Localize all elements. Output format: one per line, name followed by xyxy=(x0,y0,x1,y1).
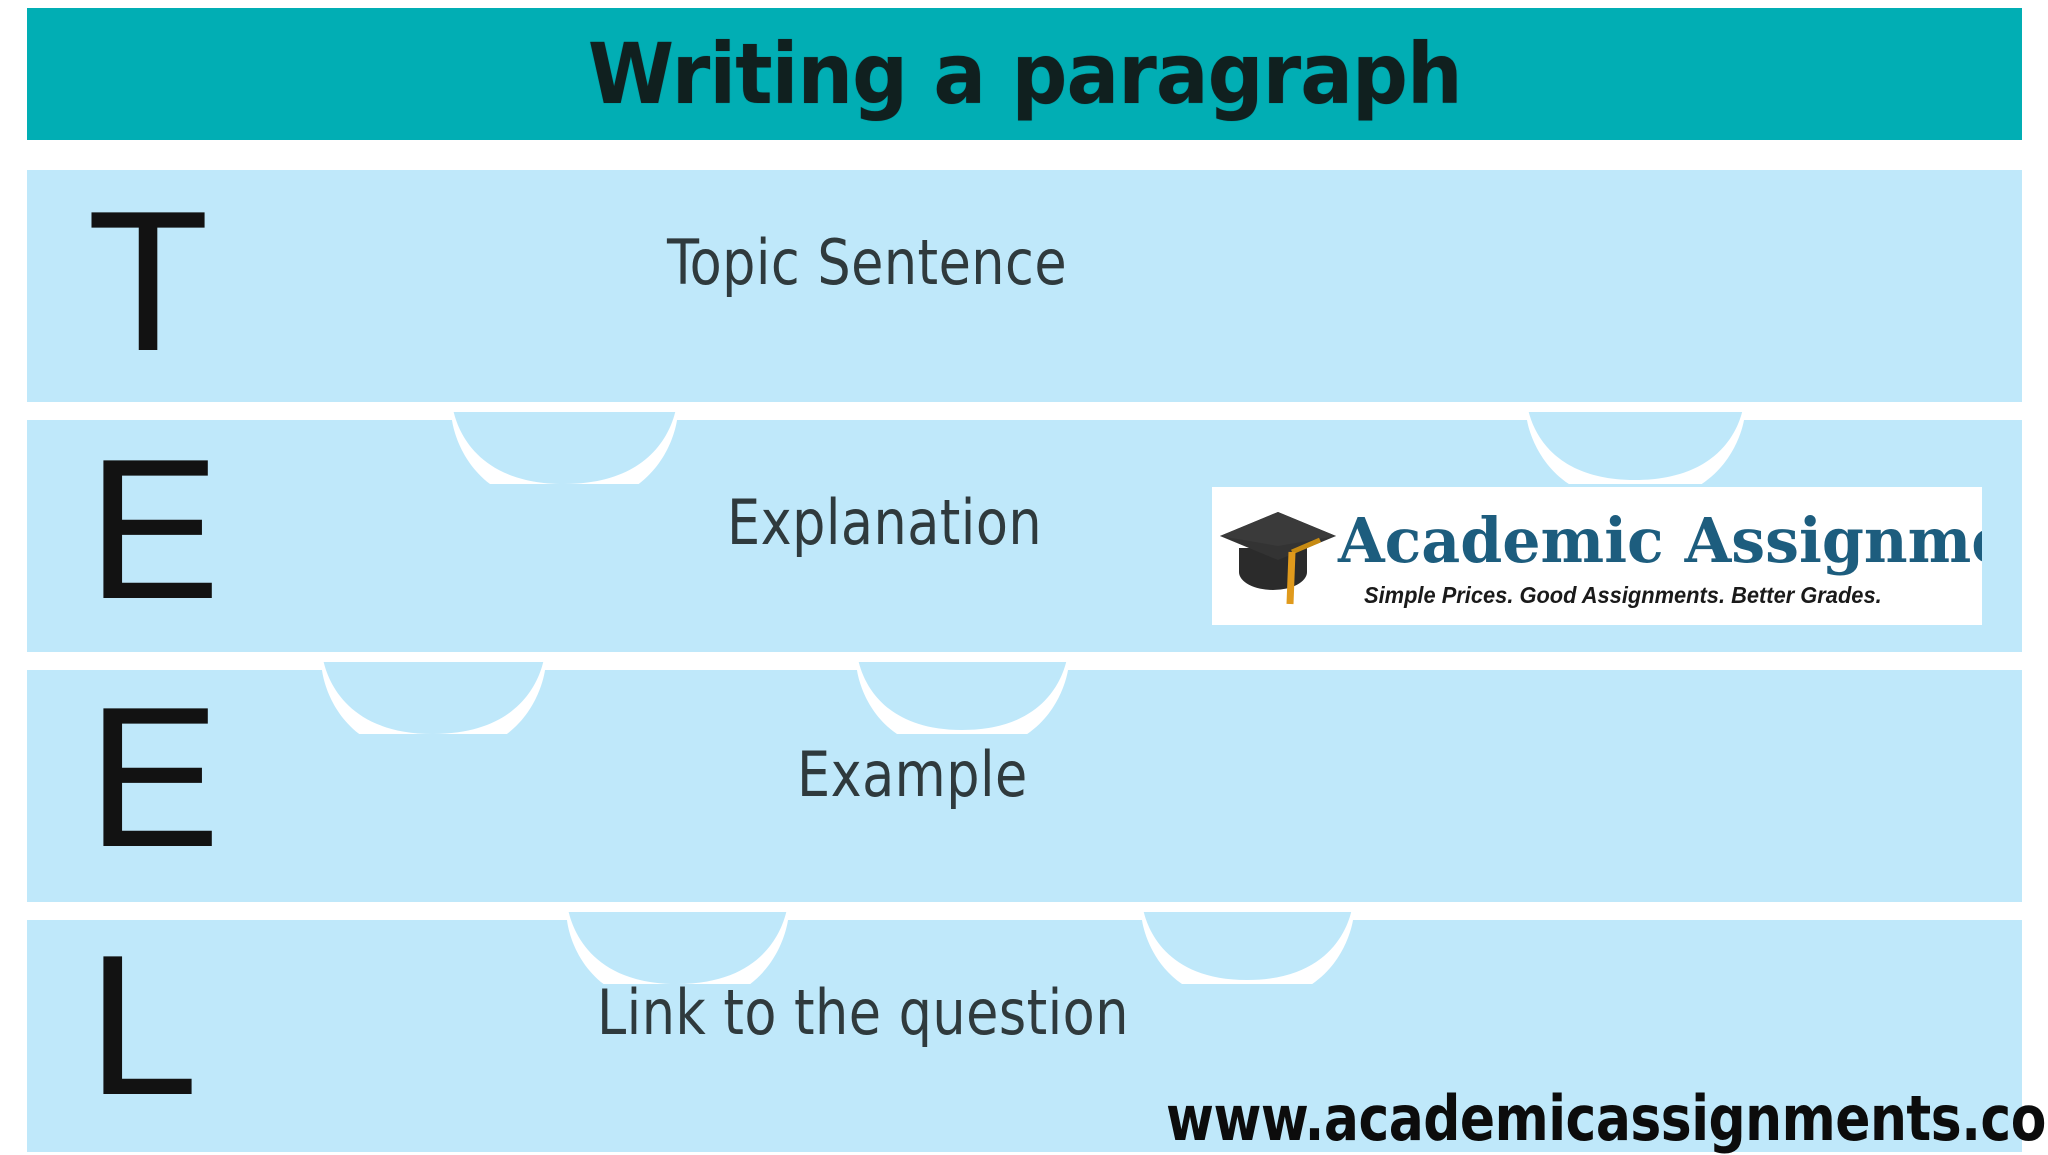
logo-title: Academic Assignments xyxy=(1338,510,1982,572)
academic-assignments-logo[interactable]: Academic Assignments Simple Prices. Good… xyxy=(1212,487,1982,625)
footer-website-url[interactable]: www.academicassignments.com xyxy=(1166,1088,2048,1150)
teel-row-example: E Example xyxy=(27,662,2022,902)
logo-tagline: Simple Prices. Good Assignments. Better … xyxy=(1364,584,1982,607)
acronym-letter-e-example: E xyxy=(87,678,220,878)
acronym-letter-l: L xyxy=(87,926,198,1126)
paragraph-writing-infographic: Writing a paragraph T Topic Sentence E E… xyxy=(0,0,2048,1152)
acronym-letter-t: T xyxy=(87,182,209,382)
page-title: Writing a paragraph xyxy=(588,32,1462,116)
row-label-explanation: Explanation xyxy=(727,492,1042,554)
teel-row-topic-sentence: T Topic Sentence xyxy=(27,170,2022,402)
row-label-example: Example xyxy=(797,744,1028,806)
row-label-link-to-question: Link to the question xyxy=(597,982,1129,1044)
header-bar: Writing a paragraph xyxy=(27,8,2022,140)
graduation-cap-icon xyxy=(1216,500,1344,612)
acronym-letter-e-explanation: E xyxy=(87,430,220,630)
logo-text-group: Academic Assignments Simple Prices. Good… xyxy=(1338,506,1982,607)
row-label-topic-sentence: Topic Sentence xyxy=(667,232,1067,294)
